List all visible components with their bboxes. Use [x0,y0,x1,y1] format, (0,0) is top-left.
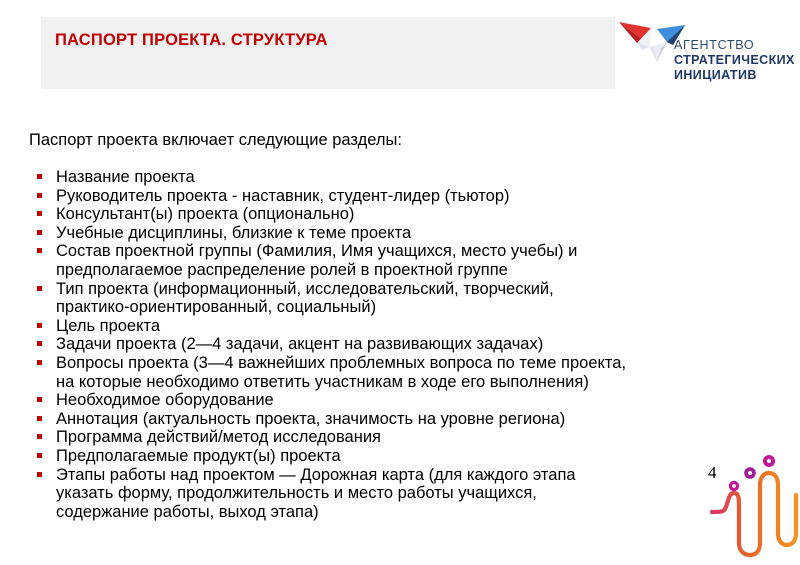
logo: АГЕНТСТВО СТРАТЕГИЧЕСКИХ ИНИЦИАТИВ [617,14,797,92]
list-item-label: Задачи проекта (2—4 задачи, акцент на ра… [56,335,709,354]
bullet-square-icon [37,248,42,253]
bullet-square-icon [37,193,42,198]
bullet-square-icon [37,341,42,346]
list-item-label: Необходимое оборудование [56,391,709,410]
list-item: Необходимое оборудование [29,391,709,410]
list-item-label: Тип проекта (информационный, исследовате… [56,280,709,317]
list-item-label: Руководитель проекта - наставник, студен… [56,187,709,206]
bullet-square-icon [37,360,42,365]
list-item: Аннотация (актуальность проекта, значимо… [29,410,709,429]
slide: ПАСПОРТ ПРОЕКТА. СТРУКТУРА [0,0,800,565]
bullet-square-icon [37,174,42,179]
logo-line-agency: АГЕНТСТВО [674,38,795,53]
list-item: Состав проектной группы (Фамилия, Имя уч… [29,242,709,279]
list-item: Задачи проекта (2—4 задачи, акцент на ра… [29,335,709,354]
list-item: Вопросы проекта (3—4 важнейших проблемны… [29,354,709,391]
bullet-square-icon [37,323,42,328]
intro-text: Паспорт проекта включает следующие разде… [29,131,402,150]
page-title: ПАСПОРТ ПРОЕКТА. СТРУКТУРА [55,31,328,50]
list-item-label: Название проекта [56,168,709,187]
bullet-square-icon [37,211,42,216]
list-item-label: Вопросы проекта (3—4 важнейших проблемны… [56,354,709,391]
list-item-label: Консультант(ы) проекта (опционально) [56,205,709,224]
list-item-label: Состав проектной группы (Фамилия, Имя уч… [56,242,709,279]
list-item: Консультант(ы) проекта (опционально) [29,205,709,224]
list-item-label: Цель проекта [56,317,709,336]
list-item-label: Программа действий/метод исследования [56,428,709,447]
logo-line-strategic: СТРАТЕГИЧЕСКИХ [674,53,795,68]
list-item: Руководитель проекта - наставник, студен… [29,187,709,206]
bullet-square-icon [37,230,42,235]
list-item-label: Учебные дисциплины, близкие к теме проек… [56,224,709,243]
list-item: Тип проекта (информационный, исследовате… [29,280,709,317]
list-item: Учебные дисциплины, близкие к теме проек… [29,224,709,243]
bullet-square-icon [37,434,42,439]
list-item-label: Аннотация (актуальность проекта, значимо… [56,410,709,429]
logo-wordmark: АГЕНТСТВО СТРАТЕГИЧЕСКИХ ИНИЦИАТИВ [674,38,795,82]
bullet-square-icon [37,397,42,402]
header-band [41,17,615,89]
list-item: Программа действий/метод исследования [29,428,709,447]
bullet-square-icon [37,416,42,421]
logo-line-initiatives: ИНИЦИАТИВ [674,68,795,83]
list-item: Название проекта [29,168,709,187]
footer-decoration [0,455,800,565]
bullet-square-icon [37,286,42,291]
list-item: Цель проекта [29,317,709,336]
